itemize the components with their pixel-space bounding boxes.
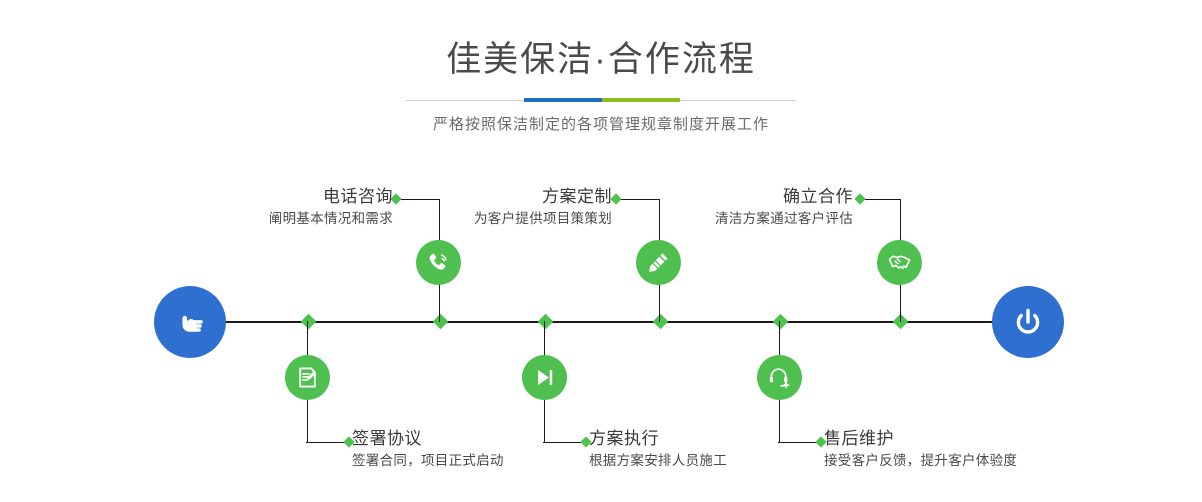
- label-desc-step-5: 清洁方案通过客户评估: [590, 208, 853, 229]
- flow-diagram-page: 佳美保洁·合作流程 严格按照保洁制定的各项管理规章制度开展工作: [0, 0, 1202, 502]
- document-pencil-icon: [294, 364, 321, 391]
- connector-corner-step-5: [900, 199, 901, 244]
- connector-corner-step-6: [779, 398, 780, 443]
- start-node[interactable]: [154, 286, 226, 358]
- phone-call-icon: [425, 249, 452, 276]
- node-icon-step-4[interactable]: [522, 355, 567, 400]
- connector-corner-step-2: [307, 398, 308, 443]
- label-desc-step-3: 为客户提供项目策策划: [340, 208, 612, 229]
- label-desc-step-6: 接受客户反馈，提升客户体验度: [824, 450, 1144, 471]
- axis-diamond-4: [653, 314, 669, 330]
- label-step-3: 方案定制 为客户提供项目策策划: [340, 186, 612, 229]
- customer-support-icon: [766, 364, 793, 391]
- node-icon-step-1[interactable]: [416, 240, 461, 285]
- label-title-step-6: 售后维护: [824, 428, 1144, 450]
- node-icon-step-2[interactable]: [285, 355, 330, 400]
- power-icon: [1008, 302, 1048, 342]
- node-icon-step-3[interactable]: [636, 240, 681, 285]
- pointing-hand-icon: [170, 302, 210, 342]
- label-title-step-5: 确立合作: [590, 186, 853, 208]
- axis-diamond-5: [773, 314, 789, 330]
- handshake-icon: [886, 249, 913, 276]
- pencil-ruler-icon: [645, 249, 672, 276]
- axis-diamond-3: [538, 314, 554, 330]
- axis-diamond-2: [433, 314, 449, 330]
- play-next-icon: [531, 364, 558, 391]
- connector-corner-step-4: [544, 398, 545, 443]
- end-node[interactable]: [992, 286, 1064, 358]
- label-title-step-3: 方案定制: [340, 186, 612, 208]
- label-step-5: 确立合作 清洁方案通过客户评估: [590, 186, 853, 229]
- connector-h-step-5: [860, 199, 901, 200]
- node-icon-step-6[interactable]: [757, 355, 802, 400]
- label-diamond-step-5: [854, 193, 865, 204]
- axis-diamond-1: [301, 314, 317, 330]
- process-timeline: 电话咨询 阐明基本情况和需求 签署协议 签署合同，项目正式启动: [0, 0, 1202, 502]
- label-step-6: 售后维护 接受客户反馈，提升客户体验度: [824, 428, 1144, 471]
- node-icon-step-5[interactable]: [877, 240, 922, 285]
